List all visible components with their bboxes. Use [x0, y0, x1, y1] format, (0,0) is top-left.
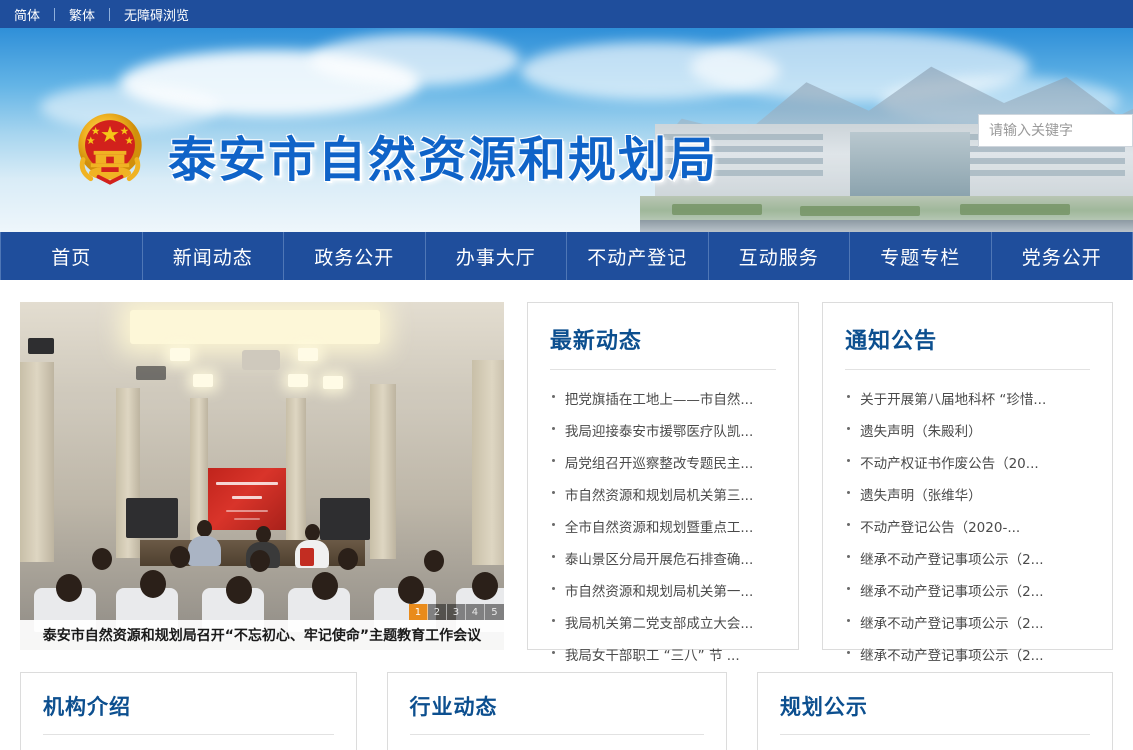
audience-head — [92, 548, 112, 570]
nav-item-special-column[interactable]: 专题专栏 — [850, 232, 992, 280]
org-intro-panel: 机构介绍 — [20, 672, 357, 750]
carousel-caption[interactable]: 泰安市自然资源和规划局召开“不忘初心、牢记使命”主题教育工作会议 — [20, 620, 504, 650]
list-item[interactable]: 继承不动产登记事项公示（2... — [845, 606, 1090, 638]
wall-vent — [136, 366, 166, 380]
list-item[interactable]: 关于开展第八届地科杯 “珍惜... — [845, 382, 1090, 414]
list-item[interactable]: 泰山景区分局开展危石排查确... — [550, 542, 776, 574]
list-item[interactable]: 局党组召开巡察整改专题民主... — [550, 446, 776, 478]
nav-item-service-hall[interactable]: 办事大厅 — [426, 232, 568, 280]
audience-head — [140, 570, 166, 598]
wall-pillar — [472, 360, 504, 565]
official-head — [256, 526, 271, 543]
list-item[interactable]: 我局迎接泰安市援鄂医疗队凯... — [550, 414, 776, 446]
spot-light — [170, 348, 190, 361]
news-panel: 最新动态 把党旗插在工地上——市自然... 我局迎接泰安市援鄂医疗队凯... 局… — [527, 302, 799, 650]
nav-item-party-affairs[interactable]: 党务公开 — [992, 232, 1133, 280]
audience-head — [226, 576, 252, 604]
audience-head — [424, 550, 444, 572]
audience-head — [472, 572, 498, 600]
carousel-pagination[interactable]: 1 2 3 4 5 — [409, 604, 504, 620]
list-item[interactable]: 继承不动产登记事项公示（2... — [845, 638, 1090, 670]
org-intro-title: 机构介绍 — [43, 691, 334, 735]
wall-vent — [28, 338, 54, 354]
list-item[interactable]: 遗失声明（朱殿利） — [845, 414, 1090, 446]
national-emblem-icon — [62, 100, 158, 196]
audience-head — [398, 576, 424, 604]
nav-item-gov-open[interactable]: 政务公开 — [284, 232, 426, 280]
red-tie — [300, 548, 314, 566]
list-item[interactable]: 市自然资源和规划局机关第三... — [550, 478, 776, 510]
list-item[interactable]: 不动产登记公告（2020-... — [845, 510, 1090, 542]
lawn-decoration — [800, 206, 920, 216]
wall-speaker — [320, 498, 370, 540]
projection-screen — [208, 468, 286, 530]
audience-head — [338, 548, 358, 570]
notice-list: 关于开展第八届地科杯 “珍惜... 遗失声明（朱殿利） 不动产权证书作废公告（2… — [845, 376, 1090, 670]
list-item[interactable]: 不动产权证书作废公告（20... — [845, 446, 1090, 478]
conference-room-photo — [20, 302, 504, 650]
list-item[interactable]: 遗失声明（张维华） — [845, 478, 1090, 510]
carousel-page-2[interactable]: 2 — [428, 604, 447, 620]
list-item[interactable]: 我局女干部职工 “三八” 节 ... — [550, 638, 776, 670]
carousel-page-3[interactable]: 3 — [447, 604, 466, 620]
lang-link-traditional[interactable]: 繁体 — [55, 5, 109, 24]
industry-news-panel: 行业动态 — [387, 672, 727, 750]
wall-pillar — [20, 362, 54, 562]
wall-pillar — [286, 398, 306, 548]
speaker-head — [197, 520, 212, 537]
nav-item-news[interactable]: 新闻动态 — [143, 232, 285, 280]
nav-item-realty-registration[interactable]: 不动产登记 — [567, 232, 709, 280]
road-strip — [640, 220, 1133, 232]
planning-notice-panel: 规划公示 — [757, 672, 1113, 750]
wall-speaker — [126, 498, 178, 538]
nav-item-home[interactable]: 首页 — [0, 232, 143, 280]
carousel-page-4[interactable]: 4 — [466, 604, 485, 620]
ceiling-light — [130, 310, 380, 344]
list-item[interactable]: 我局机关第二党支部成立大会... — [550, 606, 776, 638]
audience-head — [170, 546, 190, 568]
news-list: 把党旗插在工地上——市自然... 我局迎接泰安市援鄂医疗队凯... 局党组召开巡… — [550, 376, 776, 670]
industry-news-title: 行业动态 — [410, 691, 704, 735]
audience-head — [56, 574, 82, 602]
search-box[interactable] — [978, 114, 1133, 147]
list-item[interactable]: 市自然资源和规划局机关第一... — [550, 574, 776, 606]
carousel-page-5[interactable]: 5 — [485, 604, 504, 620]
site-banner: 泰安市自然资源和规划局 — [0, 28, 1133, 232]
main-navigation: 首页 新闻动态 政务公开 办事大厅 不动产登记 互动服务 专题专栏 党务公开 — [0, 232, 1133, 280]
search-input[interactable] — [979, 115, 1132, 146]
accessibility-link[interactable]: 无障碍浏览 — [110, 5, 203, 24]
spot-light — [298, 348, 318, 361]
spot-light — [288, 374, 308, 387]
lang-link-simplified[interactable]: 简体 — [14, 5, 54, 24]
official-head — [305, 524, 320, 541]
top-utility-bar: 简体 繁体 无障碍浏览 — [0, 0, 1133, 28]
list-item[interactable]: 把党旗插在工地上——市自然... — [550, 382, 776, 414]
audience-head — [312, 572, 338, 600]
list-item[interactable]: 全市自然资源和规划暨重点工... — [550, 510, 776, 542]
notice-panel-title: 通知公告 — [845, 323, 1090, 370]
audience-head — [250, 550, 270, 572]
projector — [242, 350, 280, 370]
page-title: 泰安市自然资源和规划局 — [168, 120, 718, 190]
building-center-block — [850, 132, 970, 198]
main-content: 1 2 3 4 5 泰安市自然资源和规划局召开“不忘初心、牢记使命”主题教育工作… — [0, 280, 1133, 650]
image-carousel[interactable]: 1 2 3 4 5 泰安市自然资源和规划局召开“不忘初心、牢记使命”主题教育工作… — [20, 302, 504, 650]
notice-panel: 通知公告 关于开展第八届地科杯 “珍惜... 遗失声明（朱殿利） 不动产权证书作… — [822, 302, 1113, 650]
spot-light — [323, 376, 343, 389]
carousel-page-1[interactable]: 1 — [409, 604, 428, 620]
wall-pillar — [370, 384, 396, 559]
list-item[interactable]: 继承不动产登记事项公示（2... — [845, 574, 1090, 606]
lawn-decoration — [960, 204, 1070, 215]
spot-light — [193, 374, 213, 387]
speaker-body — [188, 536, 221, 566]
planning-notice-title: 规划公示 — [780, 691, 1090, 735]
news-panel-title: 最新动态 — [550, 323, 776, 370]
nav-item-interactive-service[interactable]: 互动服务 — [709, 232, 851, 280]
list-item[interactable]: 继承不动产登记事项公示（2... — [845, 542, 1090, 574]
lawn-decoration — [672, 204, 762, 215]
